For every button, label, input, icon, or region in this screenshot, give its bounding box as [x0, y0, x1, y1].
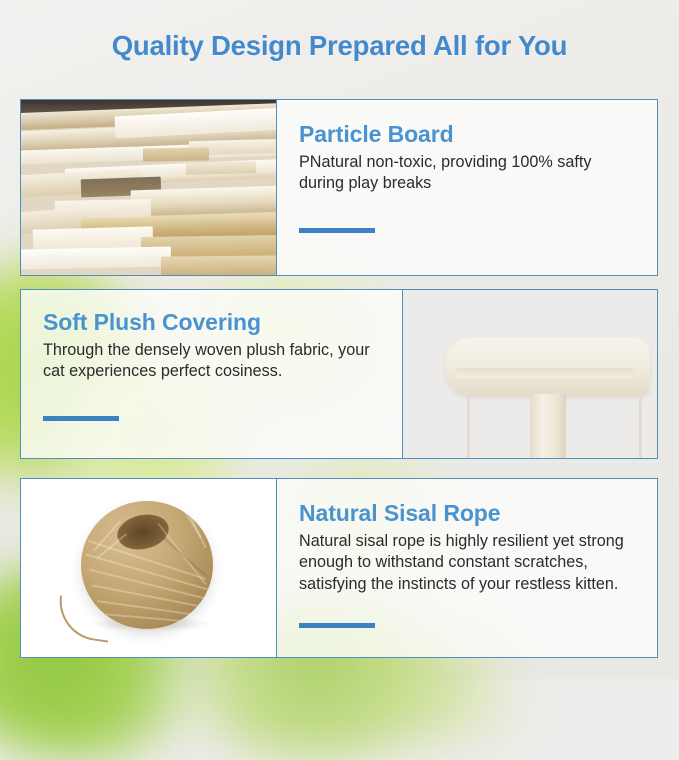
card-body-natural-sisal-rope: Natural Sisal Rope Natural sisal rope is…: [277, 479, 657, 657]
card-body-particle-board: Particle Board PNatural non-toxic, provi…: [277, 100, 657, 275]
feature-card-natural-sisal-rope: Natural Sisal Rope Natural sisal rope is…: [20, 478, 658, 658]
page-title: Quality Design Prepared All for You: [0, 30, 679, 62]
feature-card-particle-board: Particle Board PNatural non-toxic, provi…: [20, 99, 658, 276]
plush-platform-lip: [455, 368, 635, 378]
accent-underline-bar: [299, 623, 375, 628]
card-title: Soft Plush Covering: [43, 310, 380, 335]
board-plank: [131, 186, 276, 217]
board-plank: [143, 147, 209, 161]
plush-covering-photo: [403, 290, 657, 458]
plush-support-post: [530, 394, 566, 458]
card-body-soft-plush-covering: Soft Plush Covering Through the densely …: [21, 290, 402, 458]
rope-strand: [105, 613, 191, 622]
board-plank: [21, 246, 171, 269]
page-header: Quality Design Prepared All for You: [0, 30, 679, 62]
accent-underline-bar: [43, 416, 119, 421]
card-description: Through the densely woven plush fabric, …: [43, 340, 373, 383]
plush-leg: [467, 394, 470, 458]
board-plank: [186, 161, 256, 174]
card-title: Particle Board: [299, 122, 635, 147]
plush-leg: [639, 394, 642, 458]
card-description: PNatural non-toxic, providing 100% safty…: [299, 152, 635, 195]
rope-strand: [187, 512, 206, 549]
card-title: Natural Sisal Rope: [299, 501, 635, 526]
sisal-rope-photo: [21, 479, 276, 657]
card-description: Natural sisal rope is highly resilient y…: [299, 531, 635, 596]
particle-board-photo: [21, 100, 276, 275]
accent-underline-bar: [299, 228, 375, 233]
feature-card-soft-plush-covering: Soft Plush Covering Through the densely …: [20, 289, 658, 459]
rope-loose-end: [54, 595, 113, 642]
plush-platform: [445, 338, 650, 396]
board-plank: [161, 255, 276, 275]
